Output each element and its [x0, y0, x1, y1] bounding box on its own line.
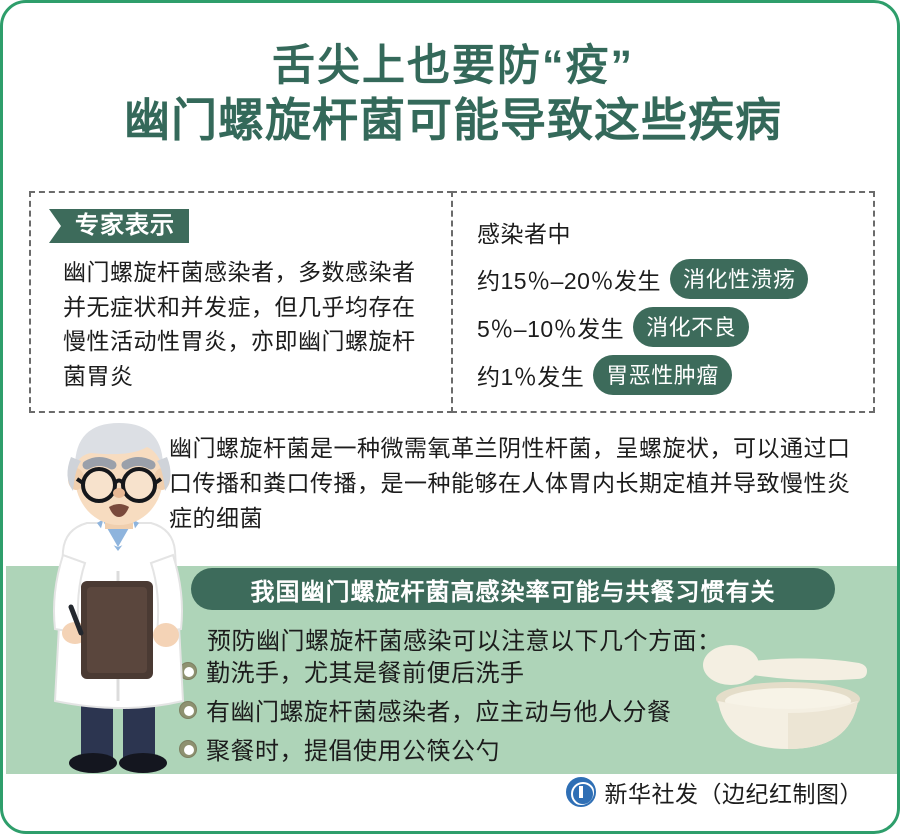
page-title: 舌尖上也要防“疫” 幽门螺旋杆菌可能导致这些疾病 — [3, 41, 900, 148]
prevention-item-label: 勤洗手，尤其是餐前便后洗手 — [206, 653, 525, 688]
info-panels: 专家表示 幽门螺旋杆菌感染者，多数感染者并无症状和并发症，但几乎均存在慢性活动性… — [29, 191, 877, 413]
statistics-list: 感染者中 约15％–20％发生 消化性溃疡 5％–10％发生 消化不良 约1％发… — [477, 215, 863, 403]
stat-row: 约15％–20％发生 消化性溃疡 — [477, 259, 863, 299]
stat-row: 5％–10％发生 消化不良 — [477, 307, 863, 347]
expert-ribbon-label: 专家表示 — [49, 209, 189, 243]
xinhua-logo-icon — [566, 777, 596, 807]
statistics-panel: 感染者中 约15％–20％发生 消化性溃疡 5％–10％发生 消化不良 约1％发… — [451, 191, 875, 413]
expert-statement-panel: 专家表示 幽门螺旋杆菌感染者，多数感染者并无症状和并发症，但几乎均存在慢性活动性… — [29, 191, 453, 413]
list-item: 聚餐时，提倡使用公筷公勺 — [179, 731, 672, 766]
title-line-1: 舌尖上也要防“疫” — [3, 41, 900, 92]
statistics-heading: 感染者中 — [477, 215, 863, 249]
doctor-illustration — [19, 421, 219, 781]
prevention-list: 勤洗手，尤其是餐前便后洗手 有幽门螺旋杆菌感染者，应主动与他人分餐 聚餐时，提倡… — [179, 653, 672, 770]
bowl-and-spoon-illustration — [693, 643, 883, 768]
bacteria-description-text: 幽门螺旋杆菌是一种微需氧革兰阴性杆菌，呈螺旋状，可以通过口口传播和粪口传播，是一… — [169, 431, 869, 536]
stat-rate: 5％–10％发生 — [477, 310, 624, 344]
list-item: 有幽门螺旋杆菌感染者，应主动与他人分餐 — [179, 692, 672, 727]
transmission-banner: 我国幽门螺旋杆菌高感染率可能与共餐习惯有关 — [191, 568, 835, 610]
stat-outcome-badge: 消化性溃疡 — [670, 259, 809, 299]
infographic-poster: 舌尖上也要防“疫” 幽门螺旋杆菌可能导致这些疾病 专家表示 幽门螺旋杆菌感染者，… — [0, 0, 900, 834]
stat-outcome-badge: 消化不良 — [633, 307, 749, 347]
stat-row: 约1％发生 胃恶性肿瘤 — [477, 355, 863, 395]
expert-statement-text: 幽门螺旋杆菌感染者，多数感染者并无症状和并发症，但几乎均存在慢性活动性胃炎，亦即… — [63, 255, 435, 393]
title-line-2: 幽门螺旋杆菌可能导致这些疾病 — [3, 92, 900, 148]
footer-credit: 新华社发（边纪红制图） — [566, 775, 864, 809]
stat-rate: 约15％–20％发生 — [477, 262, 661, 296]
stat-rate: 约1％发生 — [477, 358, 584, 392]
prevention-item-label: 有幽门螺旋杆菌感染者，应主动与他人分餐 — [206, 692, 672, 727]
prevention-heading: 预防幽门螺旋杆菌感染可以注意以下几个方面： — [207, 621, 722, 656]
credit-text: 新华社发（边纪红制图） — [605, 775, 864, 809]
stat-outcome-badge: 胃恶性肿瘤 — [593, 355, 732, 395]
list-item: 勤洗手，尤其是餐前便后洗手 — [179, 653, 672, 688]
prevention-item-label: 聚餐时，提倡使用公筷公勺 — [206, 731, 500, 766]
